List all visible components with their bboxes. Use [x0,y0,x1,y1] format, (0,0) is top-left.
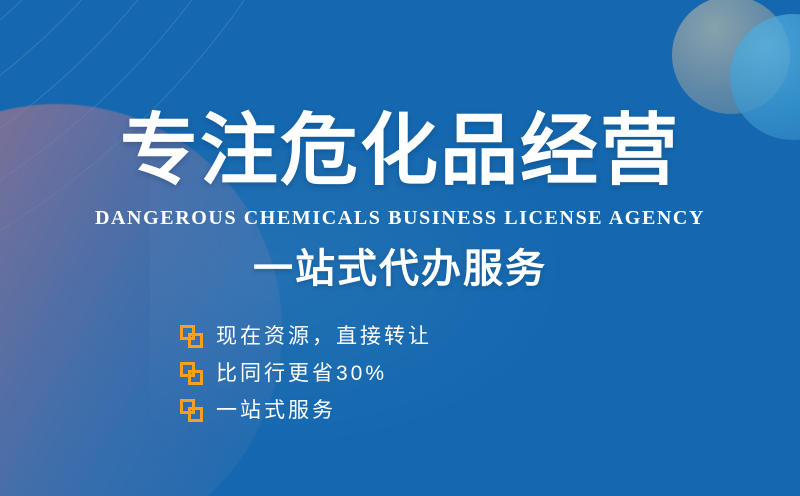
list-item: 现在资源，直接转让 [180,318,600,355]
double-square-icon [180,325,204,349]
double-square-icon [180,399,204,423]
feature-list: 现在资源，直接转让 比同行更省30% 一站式服务 [180,318,600,429]
double-square-icon [180,362,204,386]
headline-title: 专注危化品经营 [0,108,800,192]
headline-subtitle: 一站式代办服务 [0,245,800,293]
list-item: 一站式服务 [180,392,600,429]
banner-content: 专注危化品经营 DANGEROUS CHEMICALS BUSINESS LIC… [0,0,800,496]
list-item: 比同行更省30% [180,355,600,392]
list-item-label: 现在资源，直接转让 [216,325,432,349]
subtitle-english: DANGEROUS CHEMICALS BUSINESS LICENSE AGE… [0,206,800,230]
promo-banner: 专注危化品经营 DANGEROUS CHEMICALS BUSINESS LIC… [0,0,800,496]
list-item-label: 比同行更省30% [216,362,387,386]
list-item-label: 一站式服务 [216,399,336,423]
